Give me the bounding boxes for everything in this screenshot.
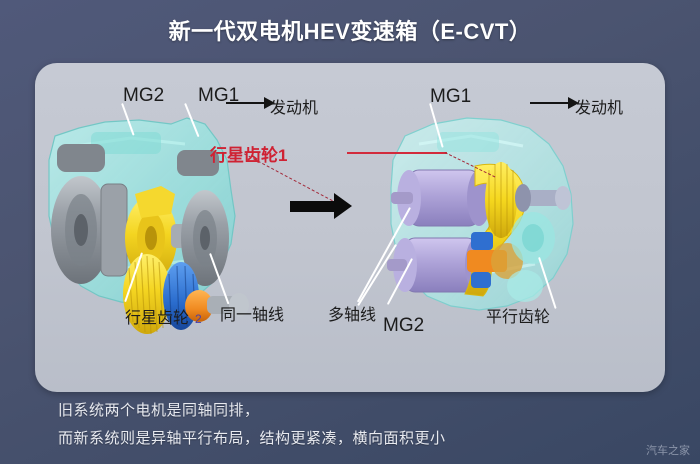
mg2-stator (101, 184, 127, 276)
mg2-top-block (57, 144, 105, 172)
label-engine-right: 发动机 (575, 94, 623, 118)
part-blue (471, 232, 493, 250)
label-mg2-left: MG2 (123, 85, 164, 107)
caption-line-1: 旧系统两个电机是同轴同排， (58, 399, 260, 420)
watermark: 汽车之家 (646, 442, 690, 458)
label-planetary-gear-1: 行星齿轮1 (210, 141, 287, 166)
page-title: 新一代双电机HEV变速箱（E-CVT） (0, 14, 700, 46)
label-engine-left: 发动机 (270, 94, 318, 118)
label-mg2-right: MG2 (383, 315, 424, 337)
caption-line-2: 而新系统则是异轴平行布局，结构更紧凑，横向面积更小 (58, 427, 446, 448)
label-planetary-gear-2: 行星齿轮 (125, 304, 189, 328)
diagram-panel: MG2 MG1 行星齿轮 2 同一轴线 行星齿轮1 MG1 多轴线 MG2 平行… (35, 63, 665, 392)
label-multi-axis: 多轴线 (328, 301, 376, 325)
label-parallel-gear: 平行齿轮 (486, 303, 550, 327)
slide-background: 新一代双电机HEV变速箱（E-CVT） (0, 0, 700, 464)
transition-arrow-icon (290, 193, 354, 219)
callout-line-horizontal (347, 152, 447, 154)
new-system-transmission-image (375, 108, 605, 333)
label-mg1-right: MG1 (430, 86, 471, 108)
label-planetary-gear-2-index: 2 (195, 312, 202, 326)
label-same-axis: 同一轴线 (220, 301, 284, 325)
